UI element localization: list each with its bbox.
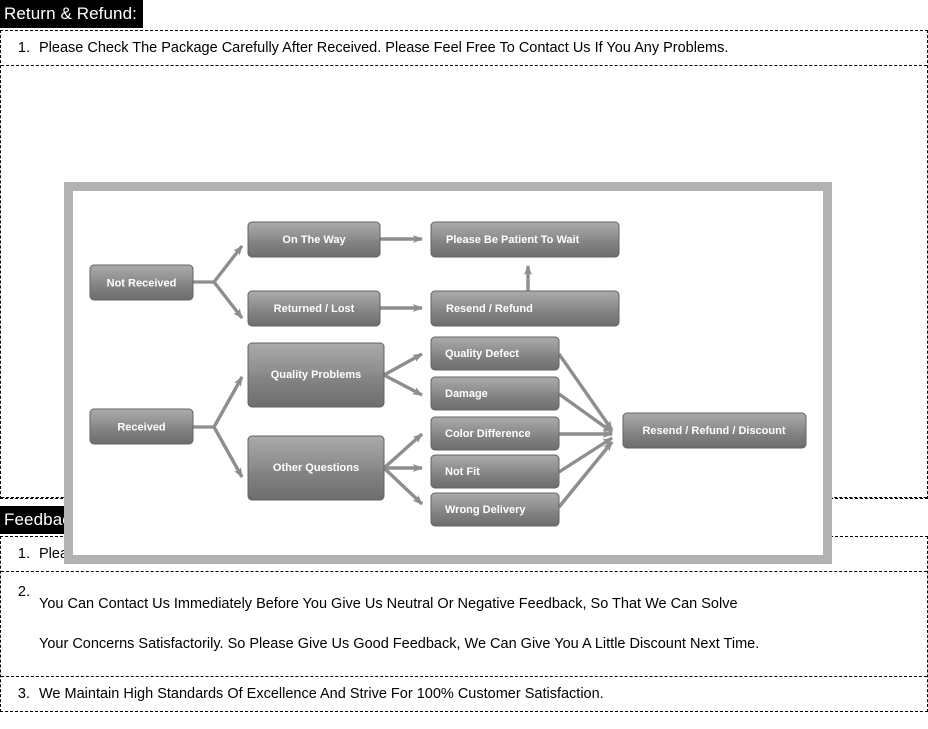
node-quality-defect: Quality Defect <box>431 337 559 370</box>
node-other-questions: Other Questions <box>248 436 384 500</box>
feedback-item-3: 3. We Maintain High Standards Of Excelle… <box>1 677 927 711</box>
node-wrong-delivery: Wrong Delivery <box>431 493 559 526</box>
node-label: On The Way <box>282 234 346 246</box>
flowchart-cell: Not Received Received On The Way <box>1 66 927 498</box>
list-text: You Can Contact Us Immediately Before Yo… <box>39 584 927 664</box>
node-color-difference: Color Difference <box>431 417 559 450</box>
node-on-the-way: On The Way <box>248 222 380 257</box>
node-received: Received <box>90 409 193 444</box>
node-label: Wrong Delivery <box>445 504 526 516</box>
node-quality-problems: Quality Problems <box>248 343 384 407</box>
node-please-be-patient-to-wait: Please Be Patient To Wait <box>431 222 619 257</box>
node-label: Resend / Refund / Discount <box>642 425 785 437</box>
flowchart-diagram: Not Received Received On The Way <box>64 182 832 564</box>
node-returned-lost: Returned / Lost <box>248 291 380 326</box>
return-refund-banner: Return & Refund: <box>0 0 143 28</box>
node-label: Quality Defect <box>445 348 519 360</box>
flowchart-svg: Not Received Received On The Way <box>64 182 832 564</box>
node-label: Not Received <box>107 277 177 289</box>
list-text: Please Check The Package Carefully After… <box>39 40 927 56</box>
node-label: Received <box>117 421 165 433</box>
return-refund-item-1: 1. Please Check The Package Carefully Af… <box>1 31 927 66</box>
node-label: Other Questions <box>273 462 359 474</box>
node-damage: Damage <box>431 377 559 410</box>
node-resend-refund: Resend / Refund <box>431 291 619 326</box>
list-number: 1. <box>1 40 39 56</box>
list-text-line-1: You Can Contact Us Immediately Before Yo… <box>39 584 919 624</box>
list-number: 2. <box>1 584 39 600</box>
node-label: Color Difference <box>445 428 531 440</box>
node-label: Quality Problems <box>271 369 361 381</box>
node-label: Please Be Patient To Wait <box>446 234 580 246</box>
listing-description-page: Return & Refund: 1. Please Check The Pac… <box>0 0 928 729</box>
return-refund-banner-row: Return & Refund: <box>0 0 928 30</box>
feedback-item-2: 2. You Can Contact Us Immediately Before… <box>1 572 927 677</box>
node-label: Not Fit <box>445 466 480 478</box>
node-label: Resend / Refund <box>446 303 533 315</box>
node-label: Returned / Lost <box>274 303 355 315</box>
list-number: 1. <box>1 546 39 562</box>
node-resend-refund-discount: Resend / Refund / Discount <box>623 413 806 448</box>
node-not-received: Not Received <box>90 265 193 300</box>
list-number: 3. <box>1 686 39 702</box>
return-refund-block: 1. Please Check The Package Carefully Af… <box>0 30 928 499</box>
list-text-line-2: Your Concerns Satisfactorily. So Please … <box>39 624 919 664</box>
list-text: We Maintain High Standards Of Excellence… <box>39 686 927 702</box>
node-not-fit: Not Fit <box>431 455 559 488</box>
node-label: Damage <box>445 388 488 400</box>
